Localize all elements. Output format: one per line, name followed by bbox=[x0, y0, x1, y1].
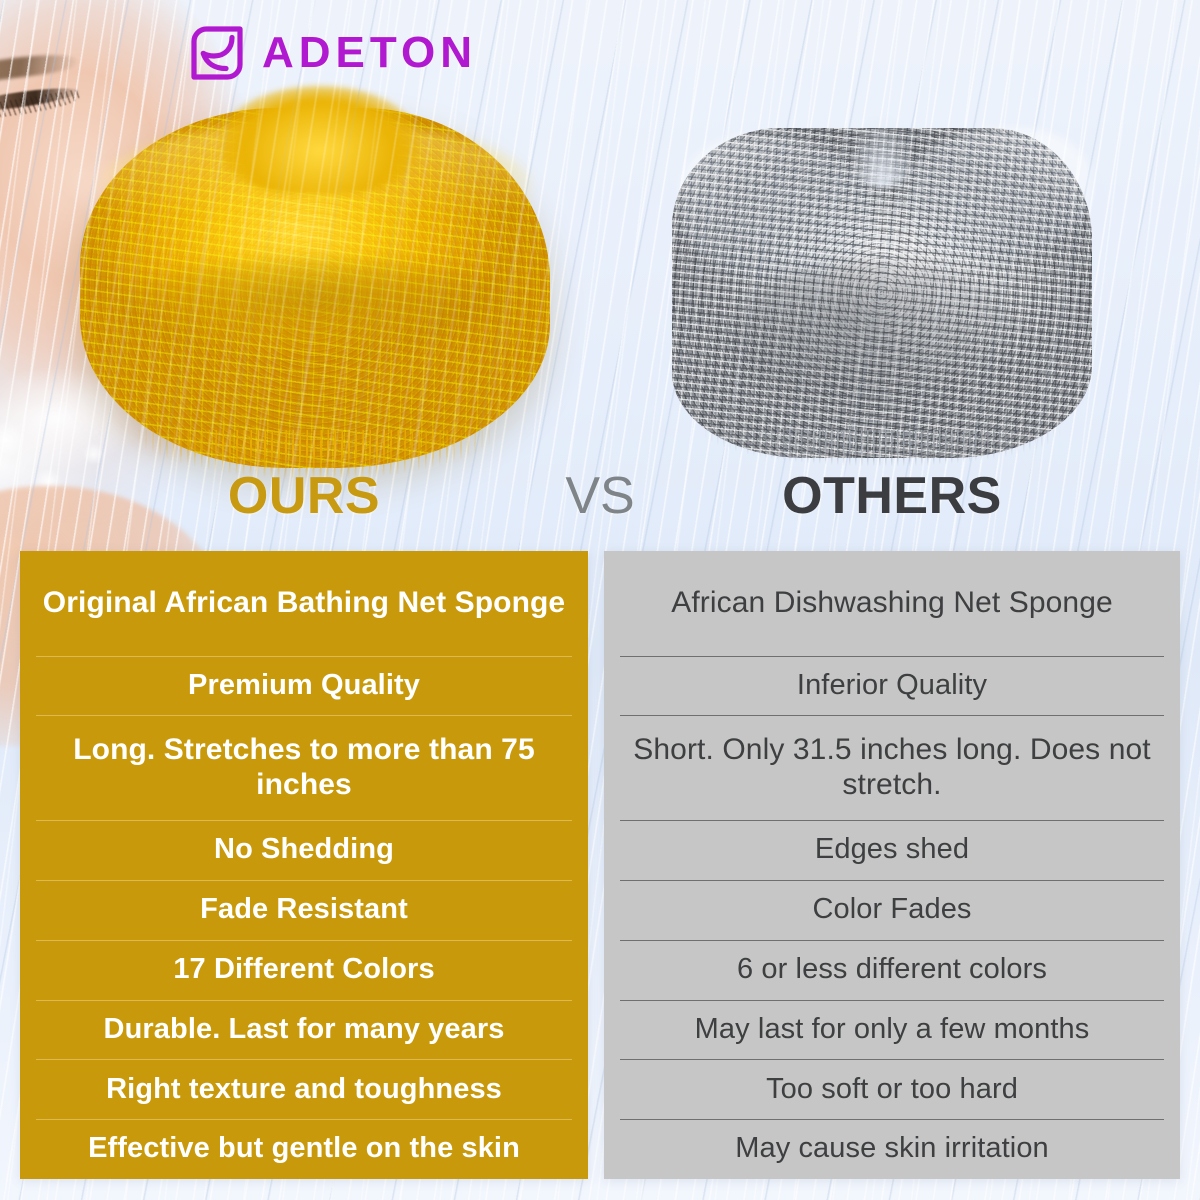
ours-feature-text: Original African Bathing Net Sponge bbox=[34, 586, 574, 621]
yellow-net-sponge-image bbox=[80, 108, 550, 468]
ours-feature-text: Right texture and toughness bbox=[34, 1073, 574, 1107]
ours-feature-text: Durable. Last for many years bbox=[34, 1013, 574, 1047]
others-feature-text: May last for only a few months bbox=[618, 1013, 1166, 1047]
others-feature-text: Edges shed bbox=[618, 833, 1166, 867]
table-row: Long. Stretches to more than 75 inches bbox=[20, 715, 588, 820]
gray-sponge-top-notch bbox=[844, 115, 920, 188]
table-row: May last for only a few months bbox=[604, 1000, 1180, 1060]
table-row: Too soft or too hard bbox=[604, 1059, 1180, 1119]
gray-net-sponge-image bbox=[672, 128, 1092, 458]
table-row: Original African Bathing Net Sponge bbox=[20, 551, 588, 656]
ours-feature-text: No Shedding bbox=[34, 833, 574, 867]
others-column: African Dishwashing Net SpongeInferior Q… bbox=[604, 551, 1180, 1179]
table-row: Inferior Quality bbox=[604, 656, 1180, 716]
table-row: Durable. Last for many years bbox=[20, 1000, 588, 1060]
table-row: Color Fades bbox=[604, 880, 1180, 940]
comparison-table: Original African Bathing Net SpongePremi… bbox=[0, 551, 1200, 1179]
ours-feature-text: Long. Stretches to more than 75 inches bbox=[34, 733, 574, 803]
infographic-canvas: ADETON OURS VS OTHERS Original African B… bbox=[0, 0, 1200, 1200]
others-feature-text: 6 or less different colors bbox=[618, 953, 1166, 987]
others-feature-text: May cause skin irritation bbox=[618, 1132, 1166, 1166]
others-feature-text: Too soft or too hard bbox=[618, 1073, 1166, 1107]
others-feature-text: Short. Only 31.5 inches long. Does not s… bbox=[618, 733, 1166, 803]
comparison-headings: OURS VS OTHERS bbox=[0, 466, 1200, 536]
others-feature-text: Inferior Quality bbox=[618, 669, 1166, 703]
ours-column: Original African Bathing Net SpongePremi… bbox=[20, 551, 588, 1179]
heading-others: OTHERS bbox=[604, 466, 1180, 526]
table-row: Short. Only 31.5 inches long. Does not s… bbox=[604, 715, 1180, 820]
yellow-sponge-top-fold bbox=[221, 86, 418, 194]
table-row: No Shedding bbox=[20, 820, 588, 880]
table-row: May cause skin irritation bbox=[604, 1119, 1180, 1179]
brand-logo: ADETON bbox=[186, 22, 477, 84]
table-row: Fade Resistant bbox=[20, 880, 588, 940]
table-row: African Dishwashing Net Sponge bbox=[604, 551, 1180, 656]
brand-name: ADETON bbox=[262, 31, 477, 75]
adeton-leaf-mark-icon bbox=[186, 22, 248, 84]
yellow-sponge-shadow bbox=[118, 259, 513, 353]
gray-sponge-fringe bbox=[685, 430, 1080, 470]
others-feature-text: Color Fades bbox=[618, 893, 1166, 927]
ours-feature-text: 17 Different Colors bbox=[34, 953, 574, 987]
table-row: Edges shed bbox=[604, 820, 1180, 880]
model-eyebrow bbox=[0, 50, 79, 85]
heading-ours: OURS bbox=[20, 466, 588, 526]
table-row: Right texture and toughness bbox=[20, 1059, 588, 1119]
ours-feature-text: Fade Resistant bbox=[34, 893, 574, 927]
table-row: Premium Quality bbox=[20, 656, 588, 716]
others-feature-text: African Dishwashing Net Sponge bbox=[618, 586, 1166, 621]
table-row: 6 or less different colors bbox=[604, 940, 1180, 1000]
ours-feature-text: Effective but gentle on the skin bbox=[34, 1132, 574, 1166]
table-row: Effective but gentle on the skin bbox=[20, 1119, 588, 1179]
gray-sponge-shadow bbox=[731, 260, 1025, 418]
table-row: 17 Different Colors bbox=[20, 940, 588, 1000]
ours-feature-text: Premium Quality bbox=[34, 669, 574, 703]
